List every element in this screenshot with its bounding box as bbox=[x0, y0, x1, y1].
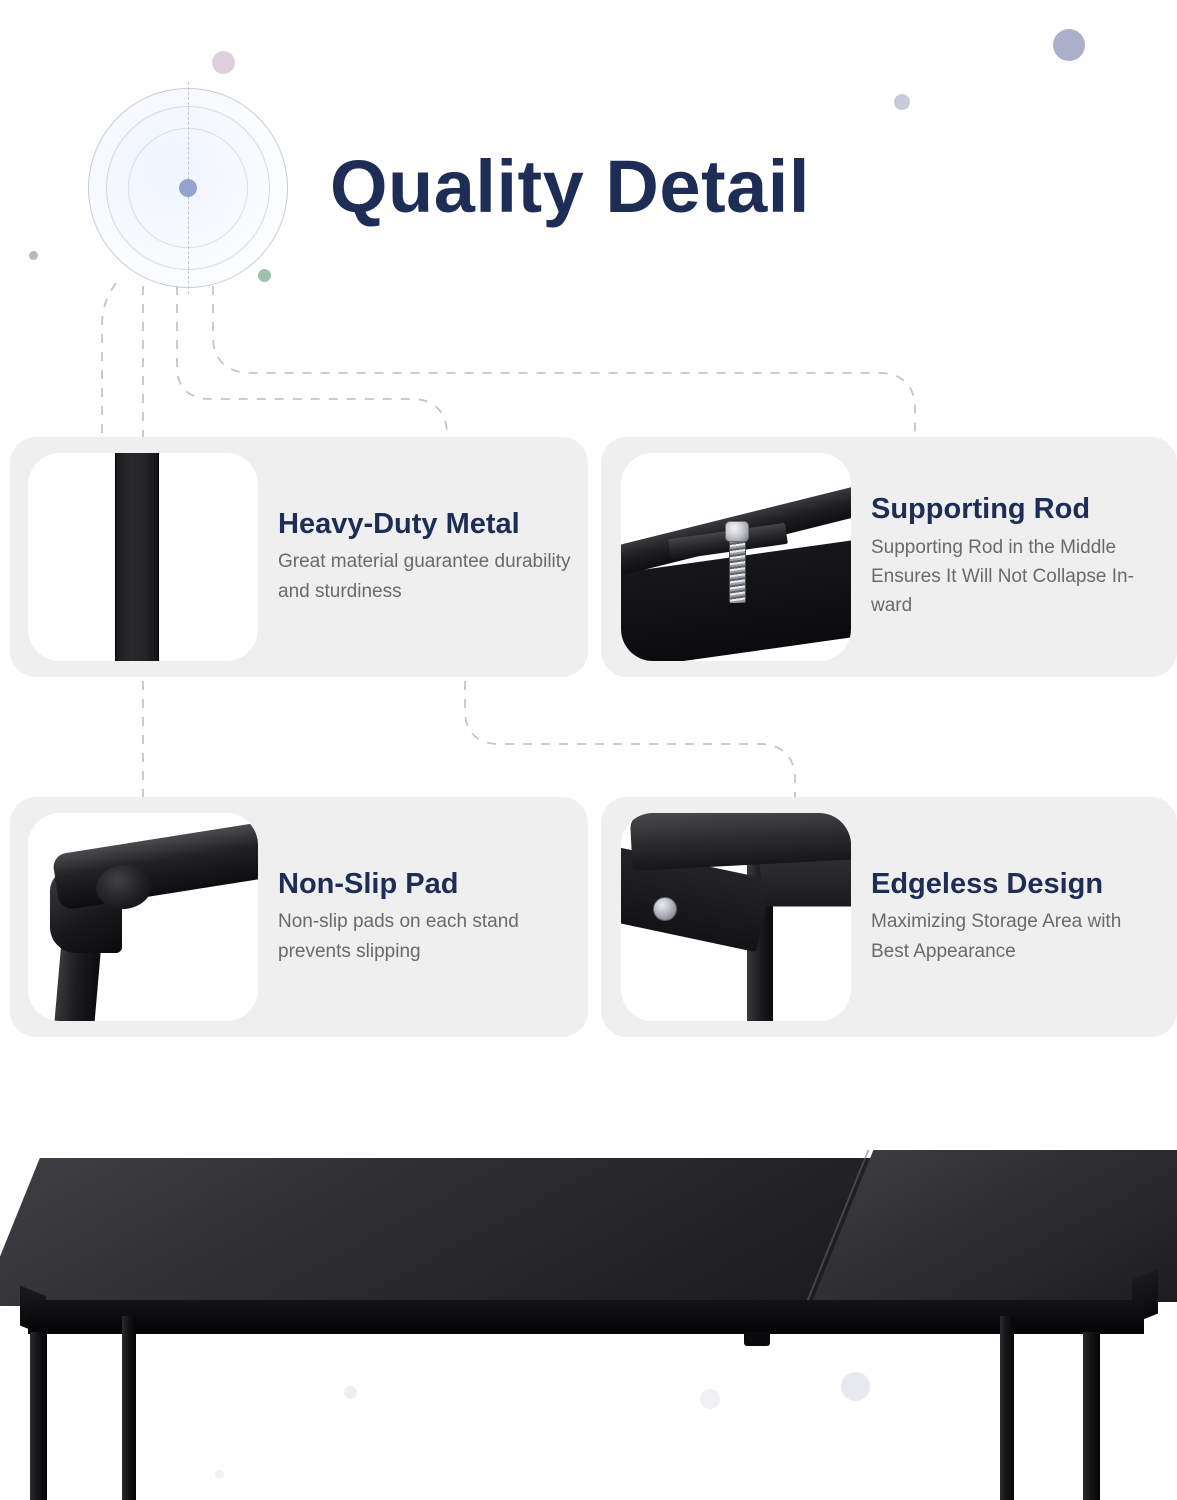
feature-card-heavy-duty-metal[interactable]: Heavy-Duty Metal Great material guarante… bbox=[10, 437, 588, 677]
tabletop-front-edge bbox=[28, 1300, 1144, 1334]
feature-description: Non-slip pads on each stand prevents sli… bbox=[278, 907, 574, 966]
metal-bar-shape bbox=[115, 453, 159, 661]
feature-title: Heavy-Duty Metal bbox=[278, 508, 574, 540]
feature-title: Edgeless Design bbox=[871, 868, 1163, 900]
feature-card-non-slip-pad[interactable]: Non-Slip Pad Non-slip pads on each stand… bbox=[10, 797, 588, 1037]
feature-card-text: Edgeless Design Maximizing Storage Area … bbox=[851, 868, 1177, 966]
feature-description: Great material guarantee durability and … bbox=[278, 547, 574, 606]
feature-card-text: Non-Slip Pad Non-slip pads on each stand… bbox=[258, 868, 588, 966]
non-slip-pad-shape bbox=[28, 813, 258, 1021]
table-leg-front-right bbox=[1083, 1332, 1100, 1500]
supporting-rod-shape bbox=[621, 453, 851, 661]
pad-leg-arm bbox=[52, 821, 258, 910]
metal-bar-photo bbox=[28, 453, 258, 661]
tabletop-right-panel bbox=[812, 1150, 1177, 1302]
feature-title: Supporting Rod bbox=[871, 493, 1163, 525]
tabletop-notch bbox=[744, 1332, 770, 1346]
tabletop-left-panel bbox=[0, 1158, 895, 1306]
feature-card-supporting-rod[interactable]: Supporting Rod Supporting Rod in the Mid… bbox=[601, 437, 1177, 677]
feature-description: Supporting Rod in the Middle Ensures It … bbox=[871, 533, 1163, 621]
connector-to-card-c-upper bbox=[177, 286, 447, 440]
supporting-rod-photo bbox=[621, 453, 851, 661]
feature-description: Maximizing Storage Area with Best Appear… bbox=[871, 907, 1163, 966]
edgeless-corner-photo bbox=[621, 813, 851, 1021]
table-corner-screw bbox=[653, 897, 677, 921]
infographic-page: Quality Detail Heavy-Duty Metal Great ma… bbox=[0, 0, 1177, 1500]
rod-screw-head bbox=[725, 521, 749, 542]
connector-to-card-b bbox=[213, 286, 915, 440]
table-leg-back-left bbox=[122, 1316, 136, 1500]
non-slip-pad-photo bbox=[28, 813, 258, 1021]
connector-card-b-to-card-d bbox=[465, 681, 795, 797]
connector-curl-left bbox=[102, 283, 116, 440]
feature-card-text: Heavy-Duty Metal Great material guarante… bbox=[258, 508, 588, 606]
table-leg-back-right bbox=[1000, 1316, 1014, 1500]
feature-card-text: Supporting Rod Supporting Rod in the Mid… bbox=[851, 493, 1177, 621]
rod-screw-thread bbox=[729, 539, 746, 603]
table-leg-front-left bbox=[30, 1332, 47, 1500]
feature-card-edgeless-design[interactable]: Edgeless Design Maximizing Storage Area … bbox=[601, 797, 1177, 1037]
edgeless-corner-shape bbox=[621, 813, 851, 1021]
console-table-photo bbox=[0, 1120, 1177, 1500]
feature-title: Non-Slip Pad bbox=[278, 868, 574, 900]
